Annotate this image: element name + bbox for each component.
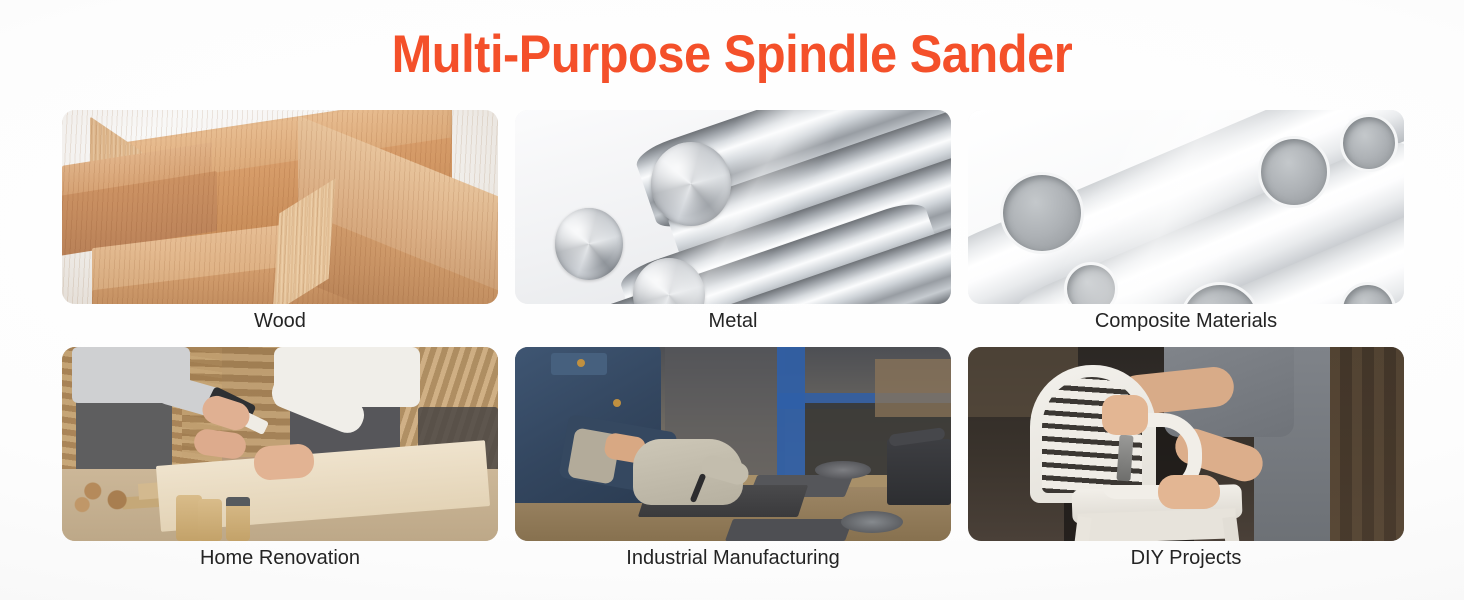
worker-right-hand: [253, 443, 315, 481]
metal-image: [515, 110, 951, 304]
composite-scene: [968, 110, 1404, 304]
industrial-image: [515, 347, 951, 541]
workbench-jar-cap: [226, 497, 250, 506]
metal-disc-1: [815, 461, 871, 479]
wood-scene: [62, 110, 498, 304]
gallery-caption-metal: Metal: [515, 306, 951, 336]
wood-image: [62, 110, 498, 304]
person-hand-lower: [1158, 475, 1220, 509]
denim-button-1: [577, 359, 585, 367]
metal-scene: [515, 110, 951, 304]
application-gallery-grid: Wood Metal: [62, 110, 1404, 541]
chair-seat-apron: [1078, 508, 1237, 541]
gallery-caption-diy: DIY Projects: [968, 543, 1404, 573]
marketing-banner: Multi-Purpose Spindle Sander: [0, 0, 1464, 600]
wood-vignette: [62, 110, 498, 304]
person-hand-upper: [1102, 395, 1148, 435]
factory-carton: [875, 359, 951, 417]
gallery-item-metal: Metal: [515, 110, 951, 304]
industrial-scene: [515, 347, 951, 541]
workbench-jar-2: [198, 499, 222, 541]
page-title: Multi-Purpose Spindle Sander: [392, 28, 1073, 81]
diy-image: [968, 347, 1404, 541]
gallery-item-renovation: Home Renovation: [62, 347, 498, 541]
gallery-item-diy: DIY Projects: [968, 347, 1404, 541]
renovation-scene: [62, 347, 498, 541]
pvc-sheen-overlay: [968, 110, 1404, 304]
page-title-container: Multi-Purpose Spindle Sander: [0, 0, 1464, 108]
metal-specular-overlay: [515, 110, 951, 304]
chair-leg-right: [1222, 516, 1239, 541]
chair-leg-left: [1074, 516, 1091, 541]
gallery-caption-wood: Wood: [62, 306, 498, 336]
metal-plate-front: [725, 519, 853, 541]
gallery-caption-renovation: Home Renovation: [62, 543, 498, 573]
gallery-caption-industrial: Industrial Manufacturing: [515, 543, 951, 573]
denim-button-2: [613, 399, 621, 407]
gallery-item-industrial: Industrial Manufacturing: [515, 347, 951, 541]
metal-disc-2: [841, 511, 903, 533]
gallery-item-composite: Composite Materials: [968, 110, 1404, 304]
diy-scene: [968, 347, 1404, 541]
composite-image: [968, 110, 1404, 304]
gallery-item-wood: Wood: [62, 110, 498, 304]
wood-offcuts: [70, 475, 146, 515]
gallery-caption-composite: Composite Materials: [968, 306, 1404, 336]
bench-clamp-body: [887, 439, 951, 505]
renovation-image: [62, 347, 498, 541]
